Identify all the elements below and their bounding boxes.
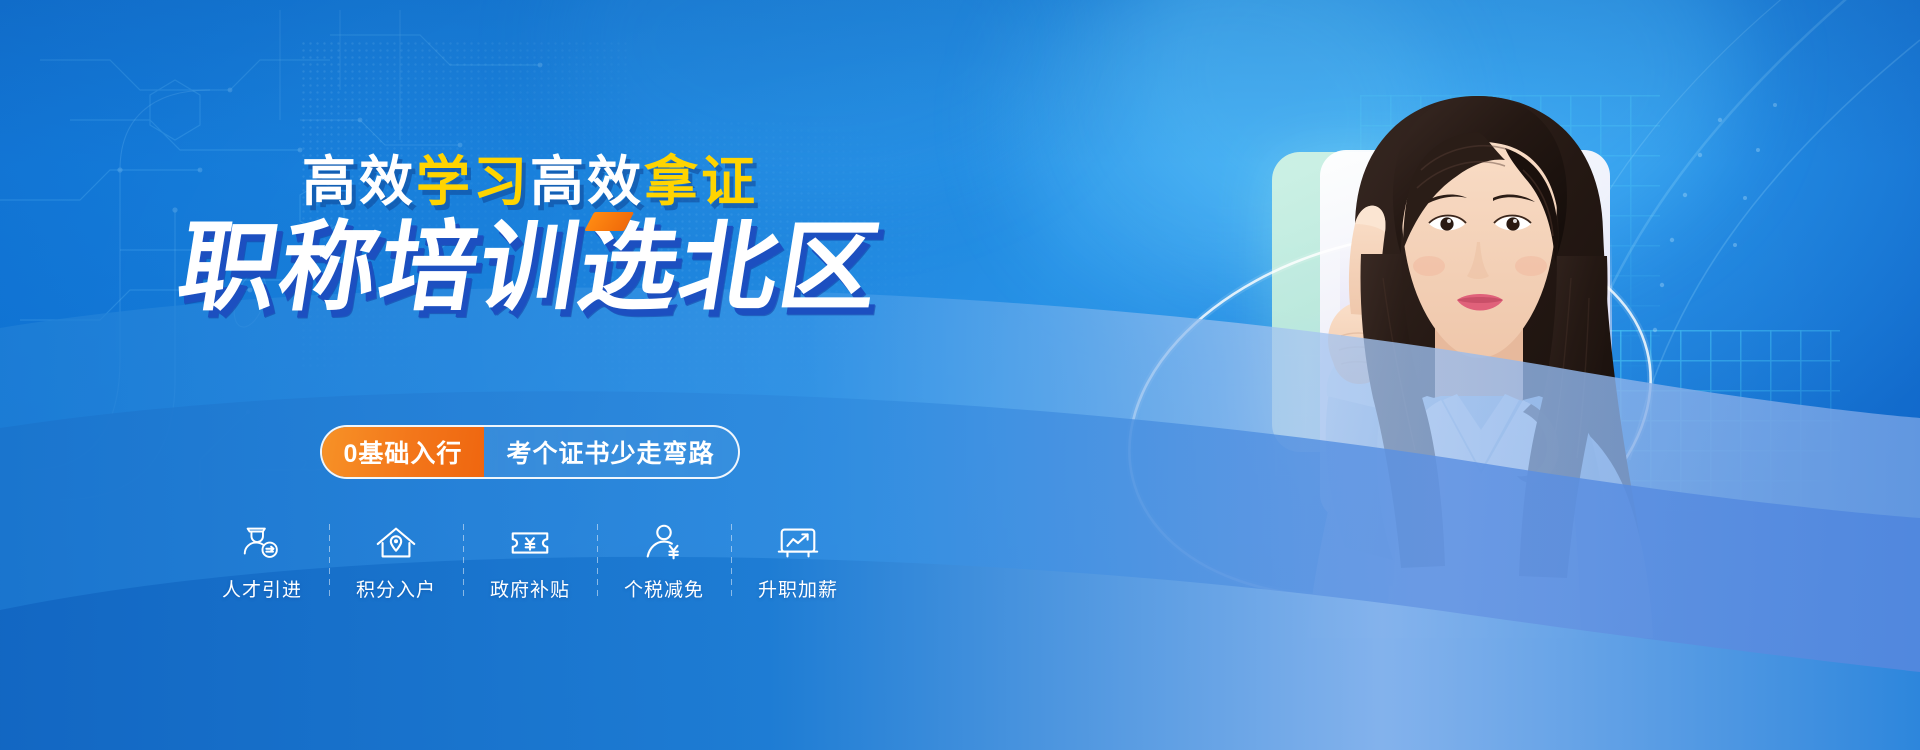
main-headline-char-7: 区 xyxy=(772,218,888,316)
main-headline-char-5: 选 xyxy=(572,218,688,316)
ticket-yen-icon xyxy=(507,520,553,566)
tagline-badge: 0基础入行 考个证书少走弯路 xyxy=(0,425,1060,479)
feature-item-points[interactable]: 积分入户 xyxy=(330,520,463,602)
main-headline-char-2: 称 xyxy=(272,218,388,316)
feature-item-tax[interactable]: 个税减免 xyxy=(598,520,731,602)
feature-label-subsidy: 政府补贴 xyxy=(490,575,570,602)
promo-banner: 2 39 xyxy=(0,0,1920,750)
feature-item-subsidy[interactable]: 政府补贴 xyxy=(464,520,597,602)
sub-headline-seg-2: 学习 xyxy=(416,155,530,209)
sub-headline-seg-4: 拿证 xyxy=(644,155,758,209)
badge-left-label: 0基础入行 xyxy=(322,427,485,477)
chart-rise-icon xyxy=(775,520,821,566)
main-headline: 职称培训选北区 xyxy=(0,218,1068,316)
feature-item-promotion[interactable]: 升职加薪 xyxy=(732,520,865,602)
tagline-badge-pill: 0基础入行 考个证书少走弯路 xyxy=(320,425,741,479)
house-pin-icon xyxy=(373,520,419,566)
feature-divider-3 xyxy=(597,524,598,596)
feature-item-talent[interactable]: 人才引进 xyxy=(196,520,329,602)
feature-label-points: 积分入户 xyxy=(356,575,436,602)
main-headline-char-3: 培 xyxy=(372,218,488,316)
sub-headline: 高效学习高效拿证 xyxy=(0,155,1060,209)
main-headline-char-6: 北 xyxy=(672,218,788,316)
feature-label-talent: 人才引进 xyxy=(222,575,302,602)
feature-row: 人才引进 积分入户 xyxy=(0,520,1060,602)
person-yen-icon xyxy=(641,520,687,566)
sub-headline-seg-3: 高效 xyxy=(530,155,644,209)
feature-label-tax: 个税减免 xyxy=(624,575,704,602)
sub-headline-seg-1: 高效 xyxy=(302,155,416,209)
main-headline-char-4: 训 xyxy=(472,218,588,316)
feature-divider-4 xyxy=(731,524,732,596)
copy-block: 高效学习高效拿证 职称培训选北区 0基础入行 考个证书少走弯路 xyxy=(0,0,1060,750)
feature-divider-2 xyxy=(463,524,464,596)
graduate-transfer-icon xyxy=(239,520,285,566)
feature-divider-1 xyxy=(329,524,330,596)
main-headline-char-1: 职 xyxy=(172,218,288,316)
feature-label-promotion: 升职加薪 xyxy=(758,575,838,602)
badge-right-label: 考个证书少走弯路 xyxy=(484,427,738,477)
